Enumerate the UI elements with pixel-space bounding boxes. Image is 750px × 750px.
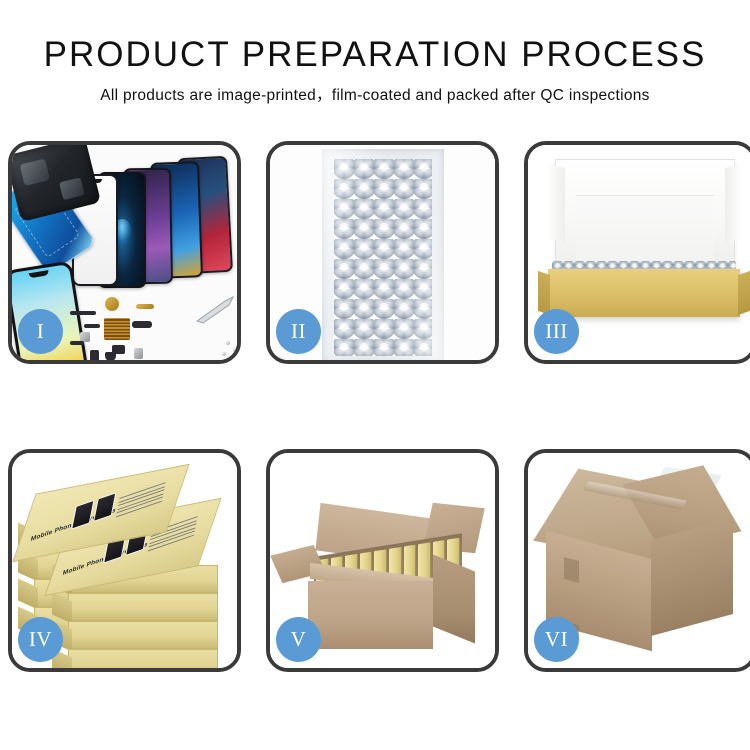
stacked-box-edge [68,621,218,649]
component-vibrator [105,297,119,311]
bubble-wrap-pouch [322,149,444,360]
tray-side-right [738,271,750,315]
step-badge-2: II [276,309,321,354]
screw-item [226,341,230,345]
step-panel-bubble-wrap[interactable]: II [266,141,499,364]
carton-handle-tab-upper [564,557,579,583]
screw-item [222,352,226,356]
step-panel-carton-filled[interactable]: V [266,449,499,672]
component-screw-plate [134,348,143,359]
tweezers-tool [195,295,235,325]
step-panel-carton-sealed[interactable]: VI [524,449,750,672]
stacked-box-edge [68,649,218,668]
lid-flap-right [725,164,743,242]
page-subtitle: All products are image-printed，film-coat… [0,85,750,107]
component-sim-tray [90,350,99,360]
bubble-grid [334,159,432,356]
box-tray-kraft [548,269,740,317]
step-panel-boxed-stack[interactable]: Mobile Phone Spare Parts Mobile Phone Sp… [8,449,241,672]
component-button-flex [132,321,152,328]
screw-item [233,348,237,352]
component-sensor-flex [70,341,84,345]
step-badge-1: I [18,309,63,354]
stacked-box-edge [68,593,218,621]
product-thumb [93,492,116,522]
component-earpiece [105,352,116,360]
page-title: PRODUCT PREPARATION PROCESS [0,34,750,76]
carton-front-face [308,581,433,649]
component-grid-board [104,318,130,340]
carton-side-face [433,555,475,644]
step-badge-6: VI [534,617,579,662]
step-panel-product-parts[interactable]: I [8,141,241,364]
step-badge-3: III [534,309,579,354]
product-thumb [71,500,94,530]
carton-face-right [651,518,733,636]
step-panel-inner-box[interactable]: III [524,141,750,364]
component-flex-cable [136,304,154,309]
box-label-product-images [71,492,116,530]
component-speaker [70,311,96,315]
lid-flap-left [547,164,565,242]
component-connector-strip [84,324,100,328]
tray-side-left [538,271,550,315]
process-step-grid: I II [8,141,742,672]
box-label-spec-lines [115,482,165,520]
step-badge-4: IV [18,617,63,662]
page-header: PRODUCT PREPARATION PROCESS All products… [0,0,750,107]
step-badge-5: V [276,617,321,662]
